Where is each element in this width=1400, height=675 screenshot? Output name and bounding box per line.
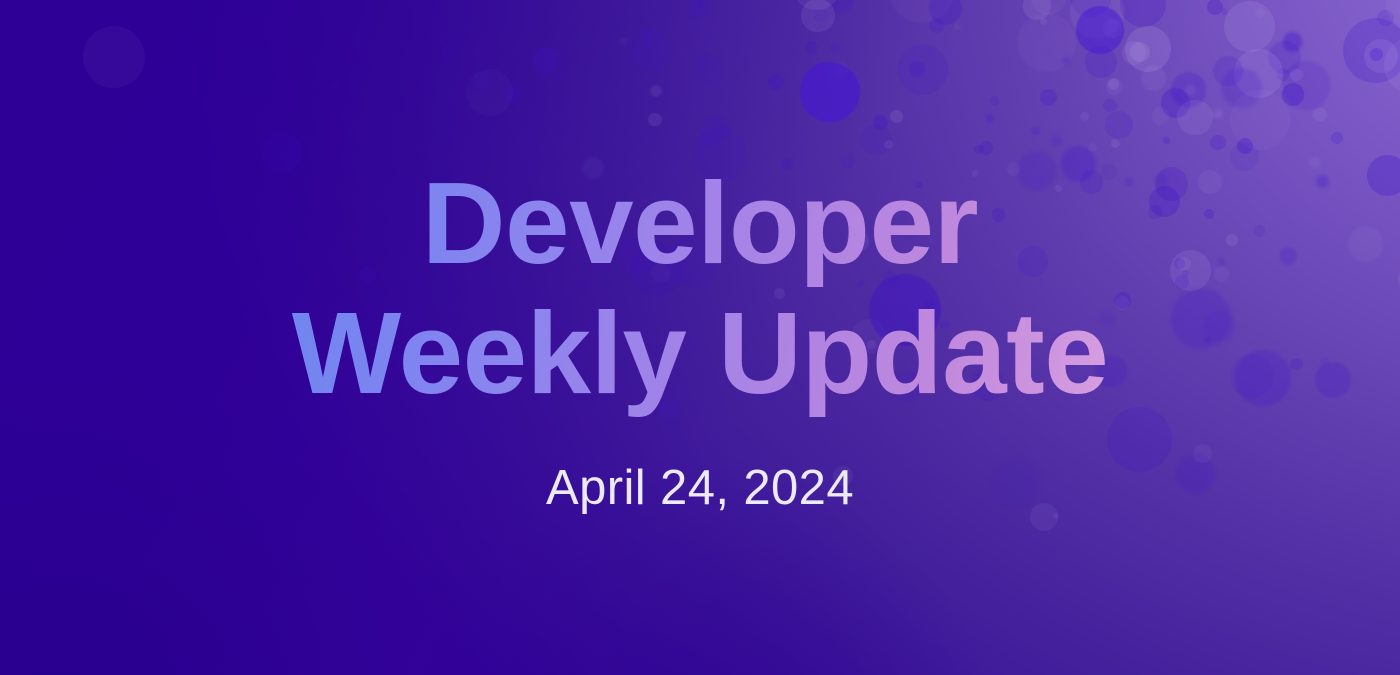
issue-date: April 24, 2024 [546,460,854,516]
page-title-line-1: Developer [292,159,1109,289]
page-title-line-2: Weekly Update [292,289,1109,419]
page-title: Developer Weekly Update [292,159,1109,419]
banner-content: Developer Weekly Update April 24, 2024 [0,0,1400,675]
weekly-update-banner: Developer Weekly Update April 24, 2024 [0,0,1400,675]
